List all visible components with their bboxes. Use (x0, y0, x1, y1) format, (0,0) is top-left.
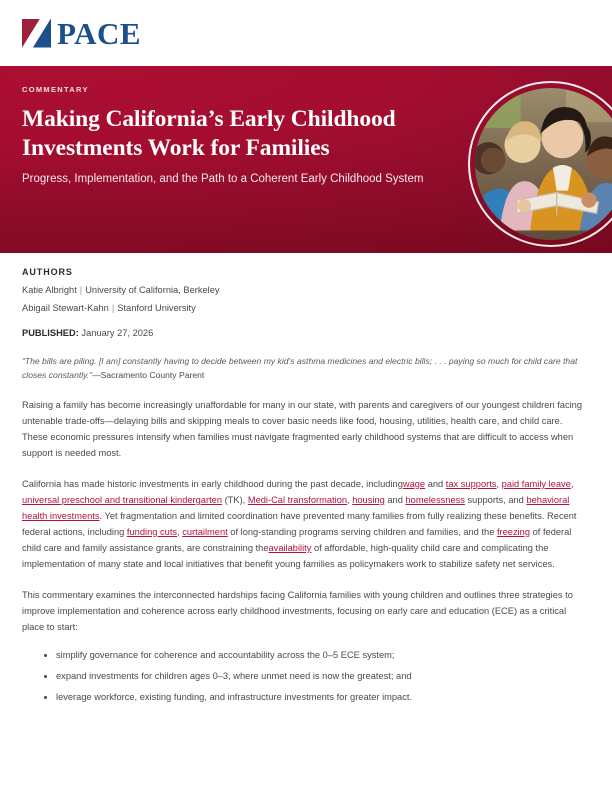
link-paid-family-leave[interactable]: paid family leave (502, 479, 571, 489)
link-wage[interactable]: wage (403, 479, 425, 489)
paragraph-1: Raising a family has become increasingly… (22, 398, 590, 462)
hero-photo-ring (468, 81, 612, 247)
author-name: Abigail Stewart-Kahn (22, 303, 109, 313)
site-header: PACE (0, 0, 612, 66)
page-title: Making California’s Early Childhood Inve… (22, 105, 426, 162)
author-separator: | (109, 303, 117, 313)
link-tax-supports[interactable]: tax supports (446, 479, 497, 489)
link-freezing[interactable]: freezing (497, 527, 530, 537)
paragraph-3: This commentary examines the interconnec… (22, 588, 590, 636)
author-entry: Abigail Stewart-Kahn|Stanford University (22, 302, 590, 315)
published-date: PUBLISHED: January 27, 2026 (22, 328, 590, 338)
link-universal-preschool-tk[interactable]: universal preschool and transitional kin… (22, 495, 222, 505)
pull-quote-attribution: —Sacramento County Parent (92, 370, 204, 380)
strategy-list: simplify governance for coherence and ac… (22, 648, 590, 706)
link-funding-cuts[interactable]: funding cuts (127, 527, 177, 537)
link-curtailment[interactable]: curtailment (182, 527, 227, 537)
published-label: PUBLISHED: (22, 328, 79, 338)
page-subtitle: Progress, Implementation, and the Path t… (22, 172, 426, 188)
author-separator: | (77, 285, 85, 295)
pace-logo-text: PACE (57, 18, 141, 49)
link-homelessness[interactable]: homelessness (405, 495, 464, 505)
link-availability[interactable]: availability (269, 543, 312, 553)
pull-quote: “The bills are piling. [I am] constantly… (22, 355, 590, 383)
link-housing[interactable]: housing (352, 495, 385, 505)
content-type-eyebrow: COMMENTARY (22, 85, 426, 94)
published-value: January 27, 2026 (81, 328, 153, 338)
author-affiliation: University of California, Berkeley (85, 285, 219, 295)
list-item: expand investments for children ages 0–3… (56, 669, 590, 685)
text-run: (TK), (222, 495, 248, 505)
text-run: and (385, 495, 406, 505)
text-run: and (425, 479, 446, 489)
paragraph-2: California has made historic investments… (22, 477, 590, 573)
pace-logo[interactable]: PACE (22, 18, 141, 49)
authors-heading: AUTHORS (22, 267, 590, 277)
list-item: simplify governance for coherence and ac… (56, 648, 590, 664)
hero-banner: COMMENTARY Making California’s Early Chi… (0, 66, 612, 253)
author-name: Katie Albright (22, 285, 77, 295)
text-run: of long-standing programs serving childr… (228, 527, 497, 537)
author-affiliation: Stanford University (117, 303, 196, 313)
text-run: supports, and (465, 495, 527, 505)
hero-photo-container (468, 81, 612, 247)
text-run: California has made historic investments… (22, 479, 403, 489)
link-medi-cal-transformation[interactable]: Medi-Cal transformation (248, 495, 347, 505)
pace-logo-mark-icon (22, 19, 51, 48)
author-entry: Katie Albright|University of California,… (22, 284, 590, 297)
list-item: leverage workforce, existing funding, an… (56, 690, 590, 706)
text-run: , (571, 479, 574, 489)
article-body: AUTHORS Katie Albright|University of Cal… (0, 253, 612, 706)
